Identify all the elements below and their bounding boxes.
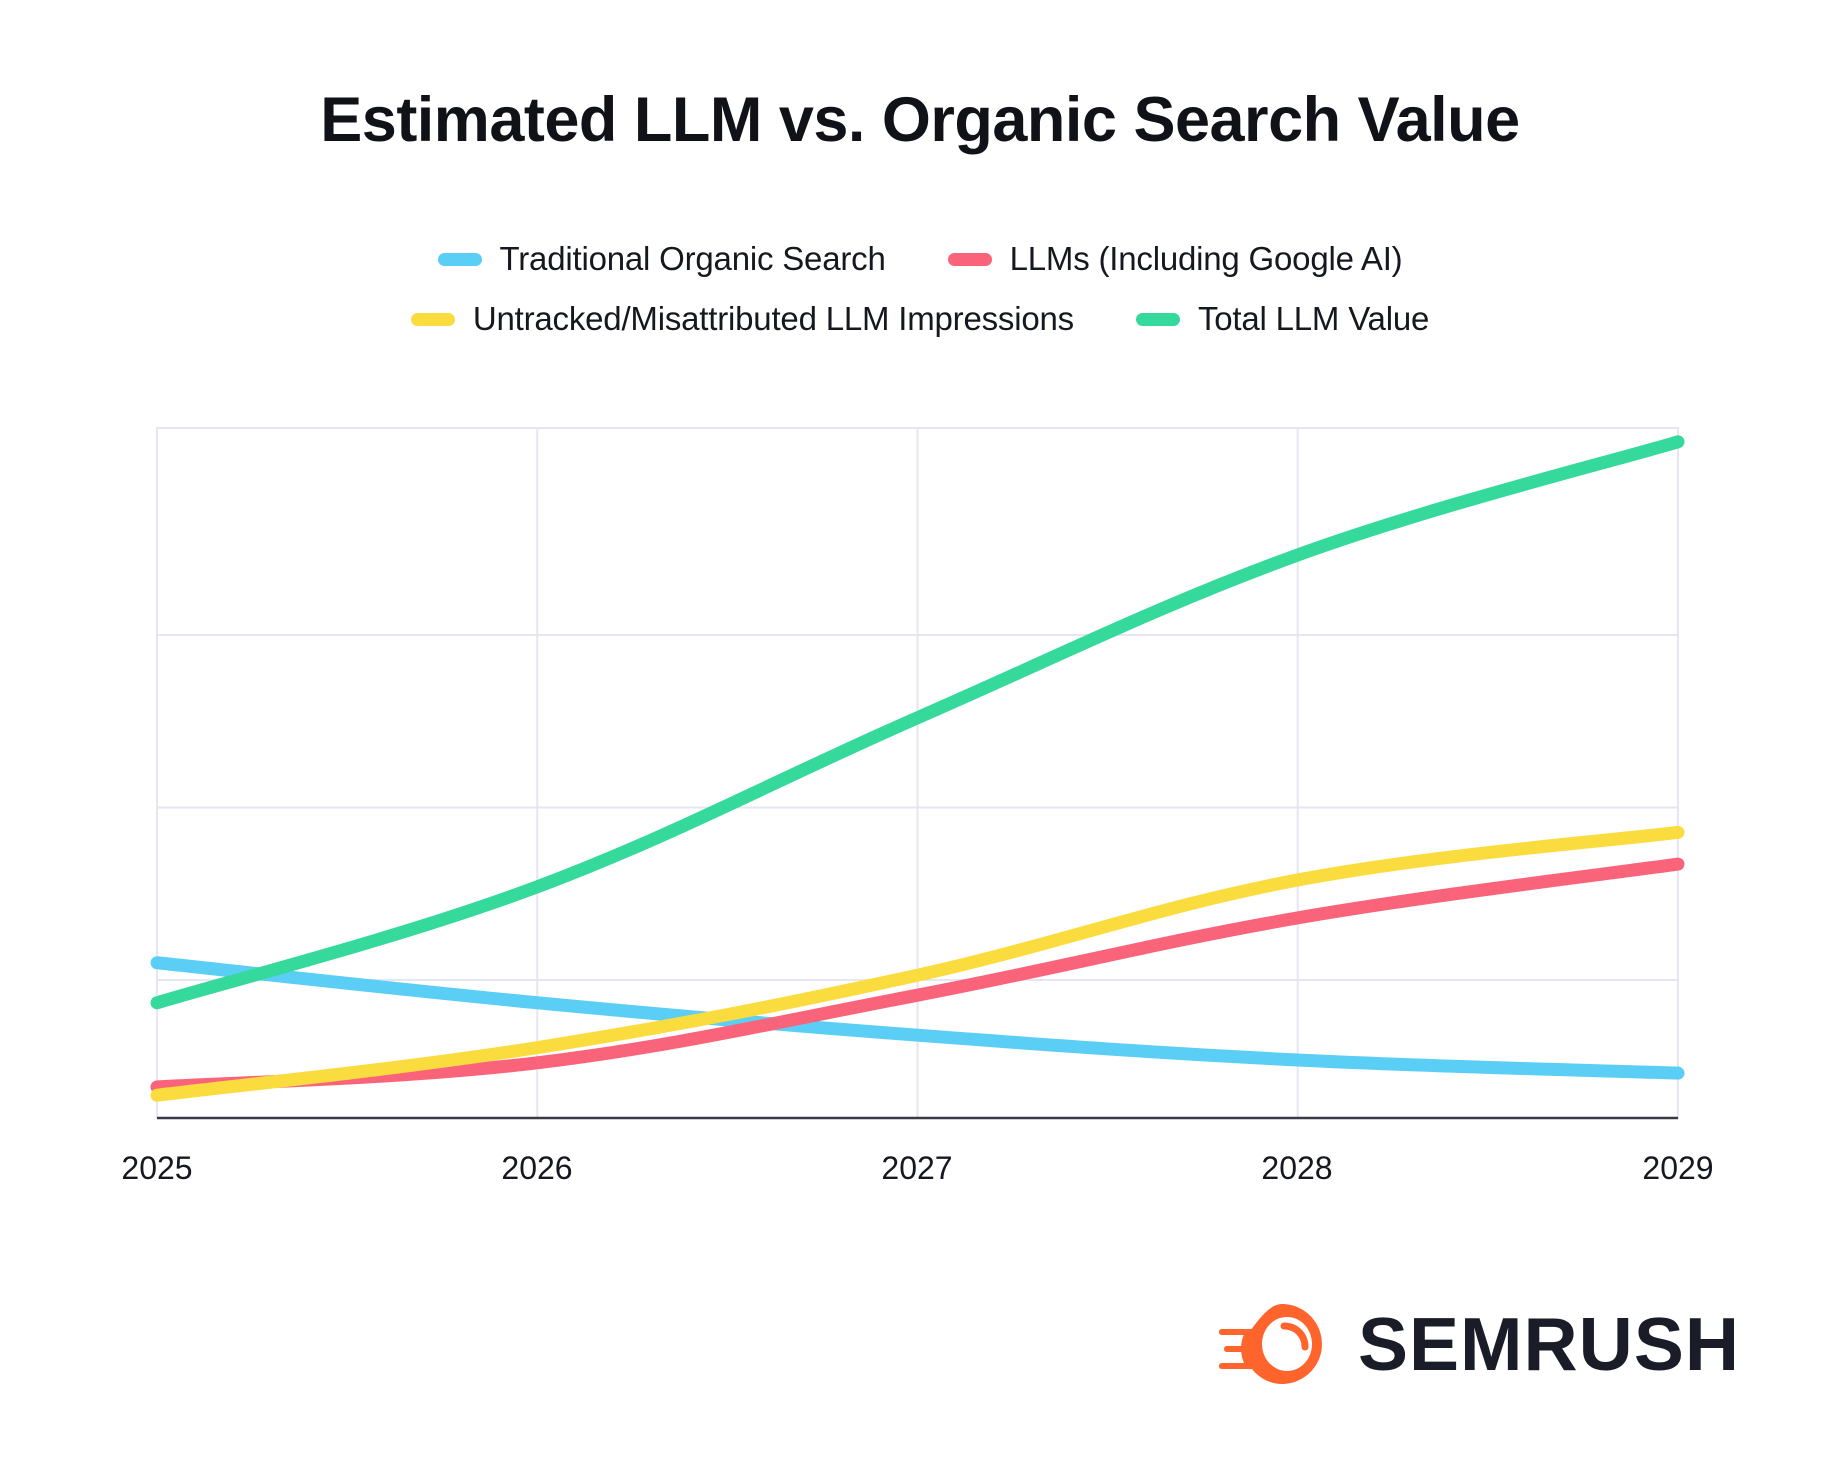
legend-swatch-icon [1136,313,1180,326]
legend-swatch-icon [438,253,482,266]
line-chart-plot [0,0,1840,1472]
series-line [157,442,1678,1003]
series-line [157,963,1678,1073]
legend-row-2: Untracked/Misattributed LLM Impressions … [411,300,1429,338]
x-tick-2025: 2025 [121,1150,192,1187]
x-tick-2028: 2028 [1261,1150,1332,1187]
x-tick-2027: 2027 [881,1150,952,1187]
legend-item-label: Untracked/Misattributed LLM Impressions [473,300,1074,338]
legend-item-label: Traditional Organic Search [500,240,886,278]
semrush-comet-icon [1218,1302,1336,1386]
chart-page: Estimated LLM vs. Organic Search Value T… [0,0,1840,1472]
legend-row-1: Traditional Organic Search LLMs (Includi… [438,240,1403,278]
legend-item-label: Total LLM Value [1198,300,1429,338]
plot-gridlines [157,428,1678,1118]
series-line [157,864,1678,1087]
legend-item-traditional-organic-search[interactable]: Traditional Organic Search [438,240,886,278]
legend-swatch-icon [411,313,455,326]
x-tick-2029: 2029 [1642,1150,1713,1187]
series-line [157,832,1678,1095]
x-tick-2026: 2026 [501,1150,572,1187]
plot-series [157,442,1678,1095]
legend-item-total-llm-value[interactable]: Total LLM Value [1136,300,1429,338]
page-title: Estimated LLM vs. Organic Search Value [0,84,1840,156]
brand-wordmark: SEMRUSH [1358,1307,1740,1382]
legend-item-label: LLMs (Including Google AI) [1010,240,1403,278]
brand-logo: SEMRUSH [1218,1302,1740,1386]
legend-swatch-icon [948,253,992,266]
chart-legend: Traditional Organic Search LLMs (Includi… [0,240,1840,338]
x-axis-tick-labels: 2025 2026 2027 2028 2029 [0,1150,1840,1200]
legend-item-untracked-impressions[interactable]: Untracked/Misattributed LLM Impressions [411,300,1074,338]
legend-item-llms[interactable]: LLMs (Including Google AI) [948,240,1403,278]
